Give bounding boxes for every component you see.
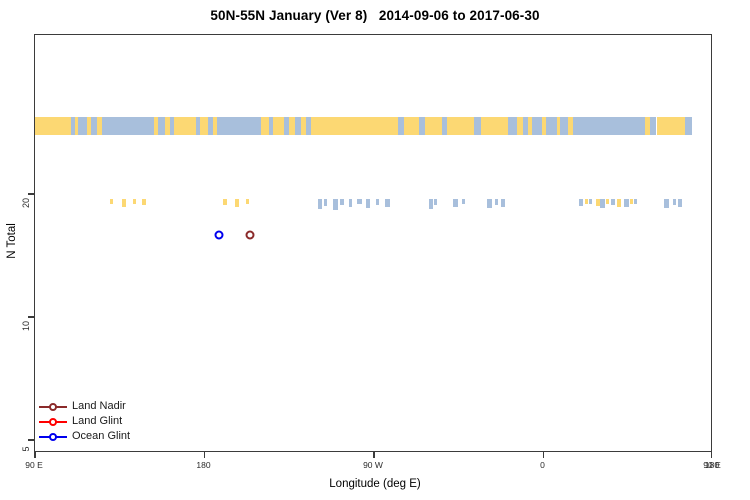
surface-segment-land [200, 117, 208, 135]
surface-segment-land [35, 117, 71, 135]
x-axis-label: Longitude (deg E) [0, 478, 750, 490]
land-speck [617, 199, 621, 207]
land-speck [596, 199, 600, 206]
x-axis-tick [543, 452, 545, 458]
coastline-notch [340, 199, 344, 205]
surface-segment-ocean [650, 117, 657, 135]
surface-segment-land [261, 117, 269, 135]
coastline-notch [376, 199, 379, 205]
legend-item-label: Land Glint [68, 414, 122, 429]
x-axis-tick [373, 452, 375, 458]
surface-segment-ocean [91, 117, 98, 135]
legend-marker-icon [38, 429, 68, 444]
surface-segment-ocean [102, 117, 154, 135]
land-speck [142, 199, 146, 205]
coastline-notch [366, 199, 370, 208]
legend-item-label: Land Nadir [68, 399, 126, 414]
coastline-notch [579, 199, 583, 206]
y-axis-tick-label: 20 [21, 192, 31, 214]
surface-segment-land [311, 117, 399, 135]
land-speck [122, 199, 126, 207]
legend-item-label: Ocean Glint [68, 429, 130, 444]
data-point [245, 230, 254, 239]
surface-segment-ocean [78, 117, 86, 135]
x-axis-tick [711, 452, 713, 458]
x-axis-tick-label: 0 [540, 460, 545, 470]
coastline-notch [385, 199, 390, 207]
legend-item[interactable]: Ocean Glint [38, 429, 208, 444]
coastline-notch [349, 199, 352, 207]
figure: 50N-55N January (Ver 8) 2014-09-06 to 20… [0, 0, 750, 500]
coastline-notch [462, 199, 466, 204]
coastline-notch [589, 199, 592, 204]
surface-segment-land [657, 117, 685, 135]
coastline-notch [664, 199, 669, 208]
coastline-notch [501, 199, 505, 207]
legend-marker-icon [38, 399, 68, 414]
coastline-notch [357, 199, 362, 204]
land-speck [133, 199, 136, 204]
x-axis-tick-label: 180 [196, 460, 210, 470]
coastline-notch [333, 199, 339, 210]
coastline-notch [673, 199, 676, 205]
legend-item[interactable]: Land Glint [38, 414, 208, 429]
land-speck [223, 199, 226, 205]
surface-segment-land [425, 117, 442, 135]
surface-segment-ocean [685, 117, 693, 135]
legend-item[interactable]: Land Nadir [38, 399, 208, 414]
surface-segment-ocean [532, 117, 541, 135]
y-axis-tick-label: 10 [21, 315, 31, 337]
coastline-notch [624, 199, 628, 207]
surface-segment-ocean [573, 117, 646, 135]
surface-segment-land [273, 117, 283, 135]
coastline-notch [453, 199, 458, 207]
data-point [214, 230, 223, 239]
surface-segment-land [174, 117, 196, 135]
legend-circle-icon [49, 433, 57, 441]
y-axis-tick-label: 5 [21, 438, 31, 460]
x-axis-tick-label: 90 W [363, 460, 383, 470]
surface-segment-ocean [508, 117, 517, 135]
surface-segment-ocean [560, 117, 568, 135]
coastline-notch [495, 199, 498, 205]
x-axis-tick [34, 452, 36, 458]
coastline-notch [611, 199, 614, 205]
land-speck [235, 199, 240, 207]
surface-segment-ocean [546, 117, 556, 135]
land-speck [246, 199, 249, 204]
plot-area [34, 34, 712, 452]
surface-segment-ocean [474, 117, 482, 135]
x-axis-tick-label: 90 E [25, 460, 43, 470]
land-speck [630, 199, 633, 204]
page-title: 50N-55N January (Ver 8) 2014-09-06 to 20… [0, 8, 750, 23]
x-axis-tick-label: 180 [705, 460, 719, 470]
coastline-notch [318, 199, 322, 209]
surface-segment-land [404, 117, 419, 135]
legend-circle-icon [49, 418, 57, 426]
x-axis-tick [204, 452, 206, 458]
land-speck [606, 199, 609, 204]
surface-segment-land [447, 117, 473, 135]
coastline-notch [324, 199, 327, 206]
surface-type-band [35, 117, 711, 135]
coastline-notch [429, 199, 433, 209]
y-axis-label: N Total [6, 201, 18, 281]
legend-circle-icon [49, 403, 57, 411]
coastline-notch [634, 199, 637, 204]
coastline-notch [600, 199, 605, 208]
surface-segment-land [481, 117, 507, 135]
surface-segment-ocean [158, 117, 165, 135]
surface-segment-ocean [217, 117, 261, 135]
coastline-notch [434, 199, 437, 205]
land-speck [585, 199, 588, 204]
coastline-notch [487, 199, 492, 208]
land-speck [110, 199, 113, 204]
legend: Land NadirLand GlintOcean Glint [38, 399, 208, 444]
coastline-notch [678, 199, 682, 207]
legend-marker-icon [38, 414, 68, 429]
